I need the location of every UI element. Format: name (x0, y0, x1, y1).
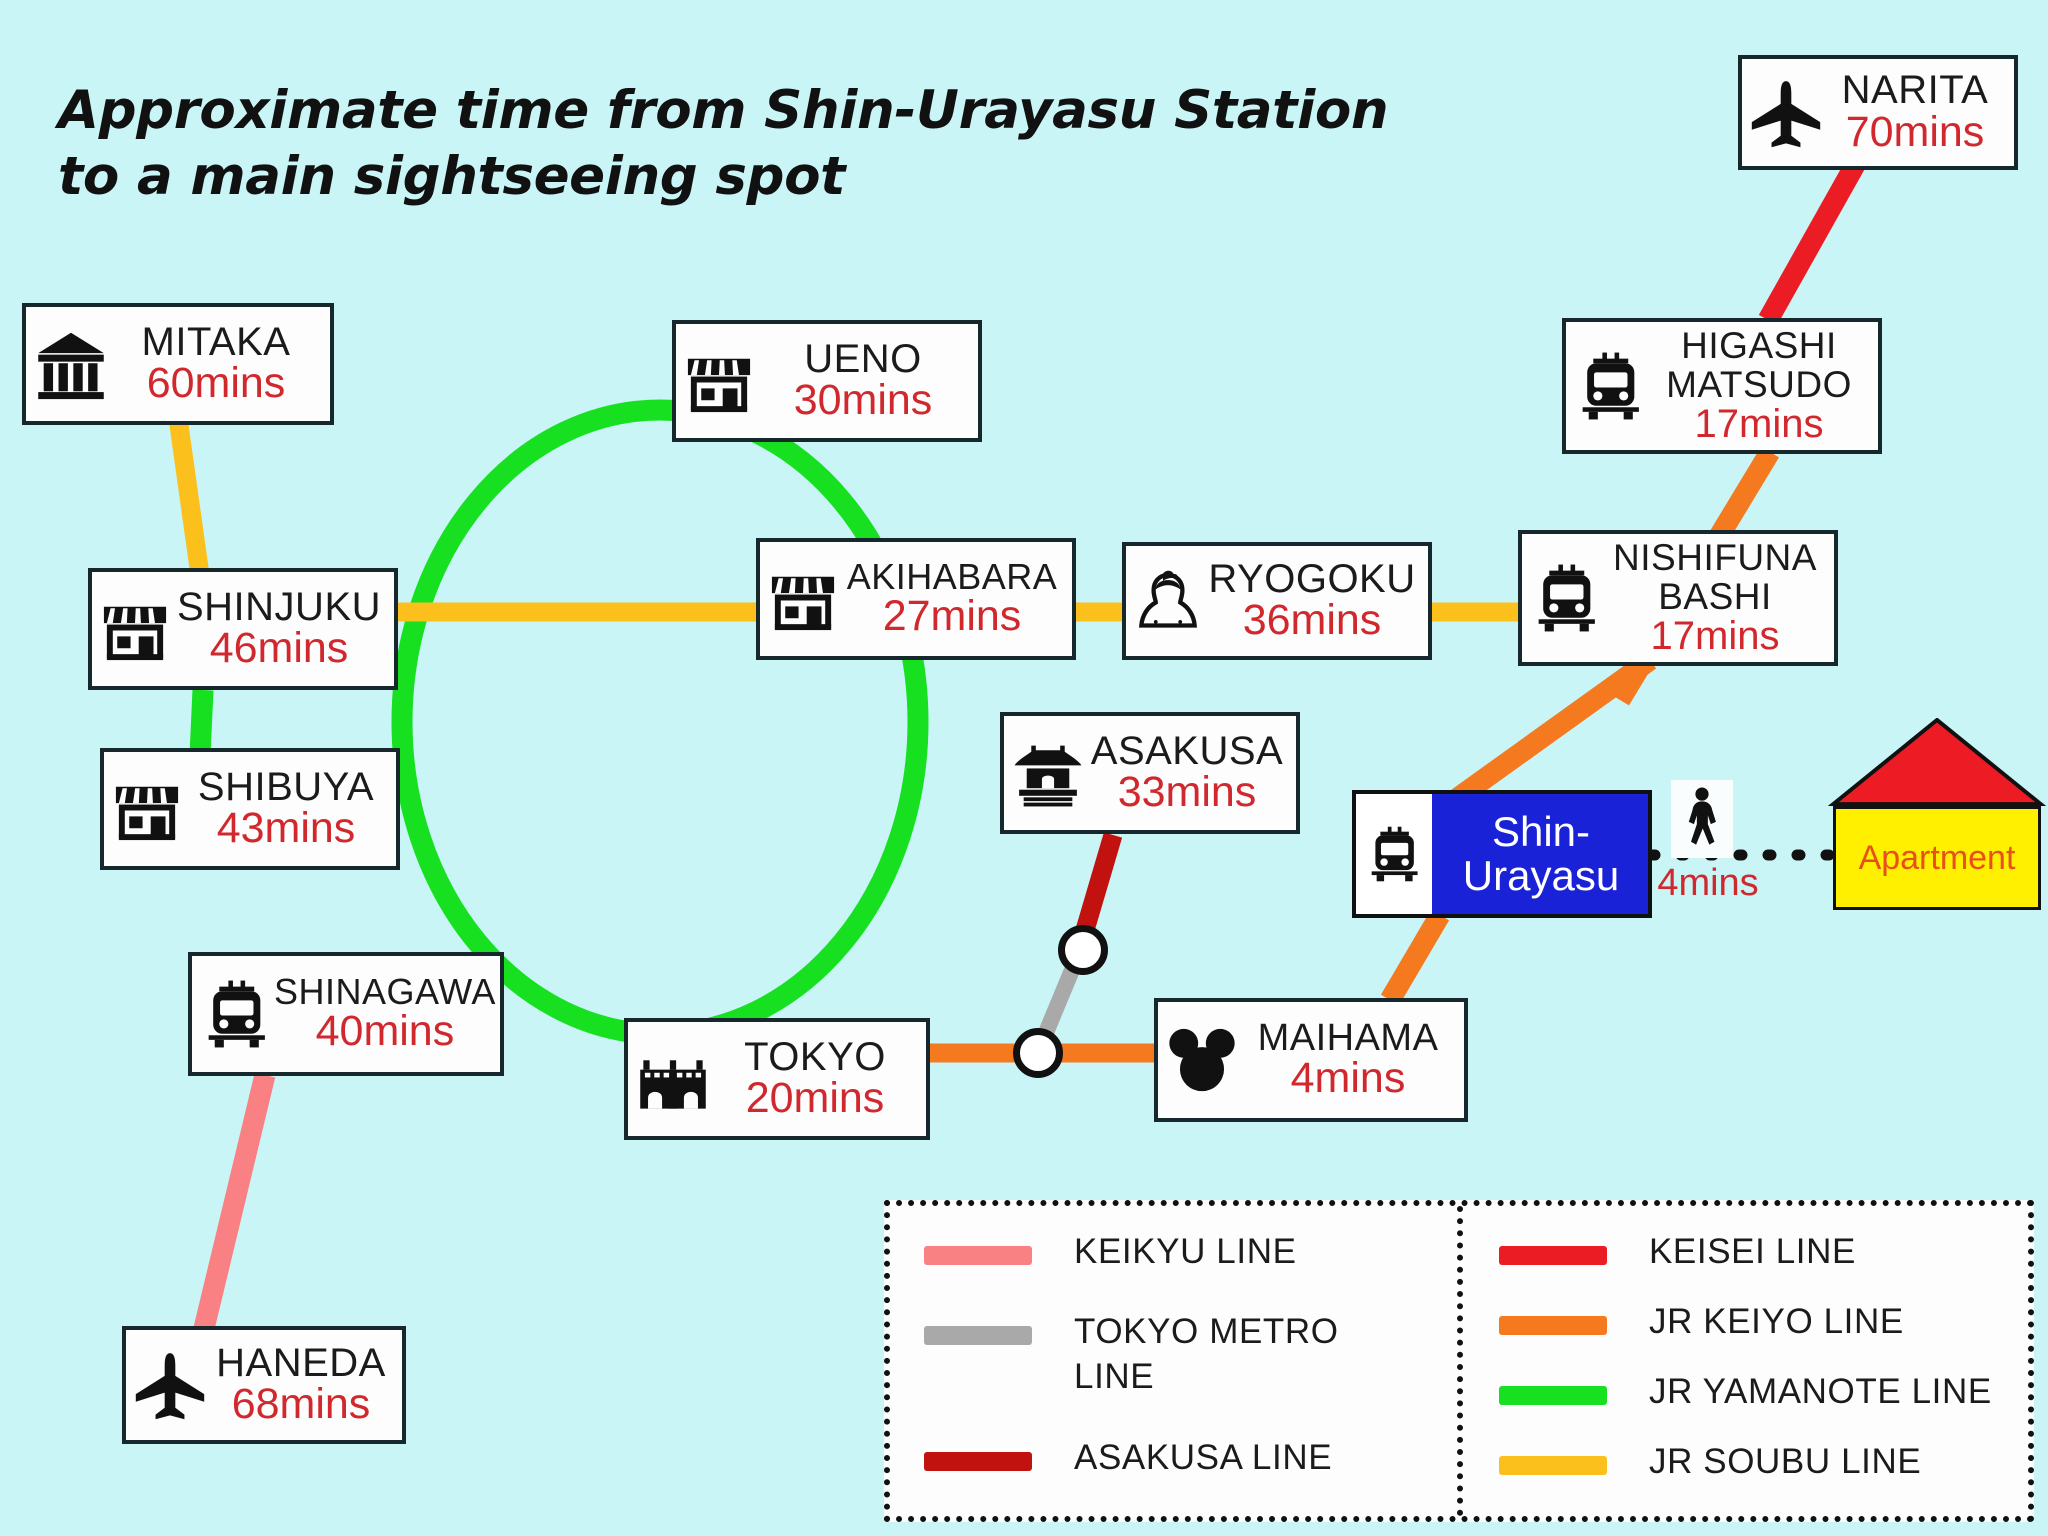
shop-icon (110, 772, 184, 846)
transit-diagram: Approximate time from Shin-Urayasu Stati… (0, 0, 2048, 1536)
train-icon (1356, 794, 1432, 914)
station-name: AKIHABARA (847, 559, 1058, 596)
station-box-mitaka[interactable]: MITAKA 60mins (22, 303, 334, 425)
legend-label-tokyo-metro: TOKYO METRO LINE (1074, 1310, 1339, 1400)
station-text: HIGASHI MATSUDO 17mins (1648, 327, 1870, 445)
line-keisei (1768, 165, 1855, 320)
station-box-haneda[interactable]: HANEDA 68mins (122, 1326, 406, 1444)
sumo-icon (1132, 565, 1204, 637)
station-mins: 43mins (217, 807, 356, 851)
pedestrian-icon (1671, 780, 1733, 858)
apartment-marker[interactable]: Apartment (1827, 718, 2047, 918)
mouse-ears-icon (1164, 1022, 1240, 1098)
station-text: TOKYO 20mins (712, 1037, 918, 1122)
legend-swatch-keisei (1499, 1246, 1607, 1265)
shop-icon (766, 562, 840, 636)
station-text: MITAKA 60mins (110, 322, 322, 407)
apartment-roof-icon (1827, 718, 2047, 808)
legend-label-jr-keiyo: JR KEIYO LINE (1649, 1300, 1904, 1345)
legend-label-asakusa: ASAKUSA LINE (1074, 1436, 1332, 1481)
station-box-higashi-matsudo[interactable]: HIGASHI MATSUDO 17mins (1562, 318, 1882, 454)
line-jr-keiyo-mid (1455, 660, 1650, 800)
station-name: SHIBUYA (198, 767, 374, 808)
legend-label-jr-soubu: JR SOUBU LINE (1649, 1440, 1921, 1485)
station-name: MAIHAMA (1258, 1019, 1439, 1058)
legend-item-keisei: KEISEI LINE (1499, 1230, 2028, 1294)
station-name: TOKYO (744, 1037, 886, 1078)
station-box-akihabara[interactable]: AKIHABARA 27mins (756, 538, 1076, 660)
shop-icon (98, 592, 172, 666)
airplane-icon (1748, 75, 1824, 151)
station-text: ASAKUSA 33mins (1086, 731, 1288, 816)
legend-swatch-tokyo-metro (924, 1326, 1032, 1345)
station-text: MAIHAMA 4mins (1240, 1019, 1456, 1102)
station-text: NARITA 70mins (1824, 70, 2006, 155)
station-name: UENO (804, 339, 922, 380)
station-mins: 4mins (1291, 1057, 1406, 1101)
station-box-narita[interactable]: NARITA 70mins (1738, 55, 2018, 170)
apartment-body: Apartment (1833, 806, 2041, 910)
legend-swatch-jr-yamanote (1499, 1386, 1607, 1405)
line-tokyo-metro (1045, 970, 1072, 1035)
interchange-metro-keiyo (1013, 1028, 1063, 1078)
station-text: SHIBUYA 43mins (184, 767, 388, 852)
home-station-shin-urayasu[interactable]: Shin- Urayasu (1352, 790, 1652, 918)
station-box-shinjuku[interactable]: SHINJUKU 46mins (88, 568, 398, 690)
station-box-shibuya[interactable]: SHIBUYA 43mins (100, 748, 400, 870)
station-mins: 17mins (1651, 616, 1780, 657)
station-mins: 36mins (1243, 599, 1382, 643)
legend-label-keisei: KEISEI LINE (1649, 1230, 1856, 1275)
station-box-tokyo[interactable]: TOKYO 20mins (624, 1018, 930, 1140)
station-mins: 27mins (883, 595, 1022, 639)
apartment-label: Apartment (1859, 839, 2016, 878)
station-mins: 33mins (1118, 771, 1257, 815)
shop-icon (682, 344, 756, 418)
legend-item-jr-yamanote: JR YAMANOTE LINE (1499, 1370, 2028, 1434)
legend-item-keikyu: KEIKYU LINE (924, 1230, 1457, 1304)
legend-label-jr-yamanote: JR YAMANOTE LINE (1649, 1370, 1992, 1415)
station-mins: 17mins (1695, 404, 1824, 445)
legend-label-keikyu: KEIKYU LINE (1074, 1230, 1297, 1275)
line-jr-keiyo-south (1390, 915, 1440, 1000)
station-name: HANEDA (216, 1343, 386, 1384)
station-name: ASAKUSA (1091, 731, 1283, 772)
legend-swatch-jr-soubu (1499, 1456, 1607, 1475)
station-box-nishifunabashi[interactable]: NISHIFUNA BASHI 17mins (1518, 530, 1838, 666)
brick-station-icon (634, 1040, 712, 1118)
home-station-label: Shin- Urayasu (1432, 810, 1648, 898)
train-icon (1572, 348, 1648, 424)
station-box-ryogoku[interactable]: RYOGOKU 36mins (1122, 542, 1432, 660)
station-mins: 46mins (210, 627, 349, 671)
station-mins: 70mins (1846, 111, 1985, 155)
line-jr-yamanote (402, 410, 918, 1034)
station-box-maihama[interactable]: MAIHAMA 4mins (1154, 998, 1468, 1122)
line-jr-soubu-mitaka (178, 418, 200, 575)
station-text: NISHIFUNA BASHI 17mins (1604, 539, 1826, 657)
station-name: NISHIFUNA BASHI (1613, 539, 1817, 616)
station-mins: 68mins (232, 1383, 371, 1427)
legend-column-right: KEISEI LINE JR KEIYO LINE JR YAMANOTE LI… (1463, 1206, 2028, 1516)
temple-gate-icon (1010, 735, 1086, 811)
station-mins: 60mins (147, 362, 286, 406)
station-name: RYOGOKU (1208, 559, 1415, 600)
station-mins: 40mins (316, 1010, 455, 1054)
legend-swatch-keikyu (924, 1246, 1032, 1265)
station-text: AKIHABARA 27mins (840, 559, 1064, 640)
station-text: HANEDA 68mins (208, 1343, 394, 1428)
interchange-asakusa-metro (1058, 925, 1108, 975)
station-name: MITAKA (142, 322, 291, 363)
line-keikyu (200, 1075, 265, 1345)
train-icon (198, 976, 274, 1052)
line-jr-yamanote-shinjuku-shibuya (200, 690, 203, 755)
train-icon (1528, 560, 1604, 636)
legend-item-jr-keiyo: JR KEIYO LINE (1499, 1300, 2028, 1364)
walk-time-label: 4mins (1654, 862, 1762, 905)
station-text: SHINJUKU 46mins (172, 587, 386, 672)
station-box-asakusa[interactable]: ASAKUSA 33mins (1000, 712, 1300, 834)
legend-swatch-asakusa (924, 1452, 1032, 1471)
station-name: NARITA (1842, 70, 1989, 111)
legend-item-jr-soubu: JR SOUBU LINE (1499, 1440, 2028, 1504)
legend: KEIKYU LINE TOKYO METRO LINE ASAKUSA LIN… (884, 1200, 2034, 1522)
station-name: SHINAGAWA (274, 974, 496, 1011)
station-mins: 20mins (746, 1077, 885, 1121)
page-title: Approximate time from Shin-Urayasu Stati… (58, 78, 1438, 209)
legend-item-asakusa: ASAKUSA LINE (924, 1436, 1457, 1510)
station-text: UENO 30mins (756, 339, 970, 424)
line-asakusa (1085, 835, 1113, 930)
legend-column-left: KEIKYU LINE TOKYO METRO LINE ASAKUSA LIN… (890, 1206, 1463, 1516)
station-name: HIGASHI MATSUDO (1666, 327, 1852, 404)
legend-swatch-jr-keiyo (1499, 1316, 1607, 1335)
airplane-icon (132, 1347, 208, 1423)
station-box-shinagawa[interactable]: SHINAGAWA 40mins (188, 952, 504, 1076)
legend-item-tokyo-metro: TOKYO METRO LINE (924, 1310, 1457, 1429)
station-text: RYOGOKU 36mins (1204, 559, 1420, 644)
station-mins: 30mins (794, 379, 933, 423)
station-box-ueno[interactable]: UENO 30mins (672, 320, 982, 442)
museum-icon (32, 325, 110, 403)
station-text: SHINAGAWA 40mins (274, 974, 496, 1055)
station-name: SHINJUKU (177, 587, 381, 628)
